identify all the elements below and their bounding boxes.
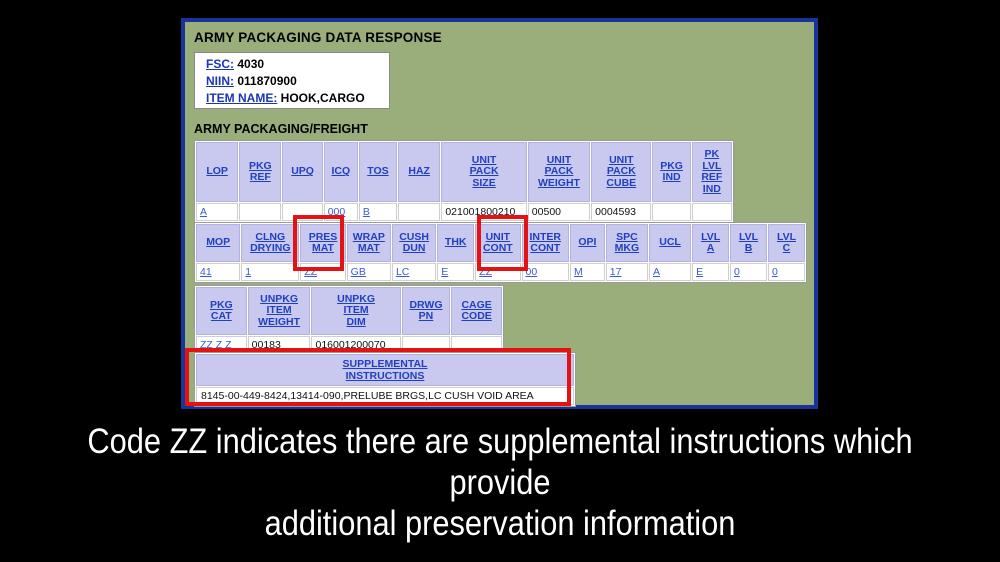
header-word: CAGE	[461, 299, 491, 311]
column-header-preservation-10[interactable]: UCL	[649, 224, 691, 262]
cell-freight-1	[239, 203, 281, 221]
column-header-preservation-1[interactable]: CLNGDRYING	[241, 224, 299, 262]
header-word: SPC	[616, 231, 638, 243]
header-word: LVL	[739, 231, 758, 243]
header-word: INTER	[529, 231, 561, 243]
table-row: A000B021001800210005000004593	[196, 203, 732, 221]
cell-link[interactable]: ZZ	[479, 266, 492, 278]
column-header-freight-6[interactable]: UNITPACKSIZE	[441, 142, 526, 202]
header-word: DRWG	[409, 299, 442, 311]
caption: Code ZZ indicates there are supplemental…	[60, 421, 940, 544]
cell-value: 00500	[532, 206, 561, 218]
cell-link[interactable]: M	[574, 266, 583, 278]
header-word: MAT	[312, 242, 334, 254]
column-header-unpackaged-3[interactable]: DRWGPN	[402, 287, 451, 335]
cell-preservation-2[interactable]: ZZ	[300, 263, 345, 281]
header-word: LVL	[702, 160, 721, 172]
cell-link[interactable]: E	[696, 266, 703, 278]
header-word: ITEM	[267, 304, 292, 316]
column-header-preservation-0[interactable]: MOP	[196, 224, 240, 262]
header-word: MAT	[358, 242, 380, 254]
header-word: HAZ	[408, 165, 430, 177]
header-word: PKG	[249, 160, 272, 172]
cell-freight-9	[652, 203, 690, 221]
cell-link[interactable]: E	[441, 266, 448, 278]
column-header-unpackaged-4[interactable]: CAGECODE	[451, 287, 502, 335]
column-header-preservation-9[interactable]: SPCMKG	[606, 224, 648, 262]
column-header-freight-3[interactable]: ICQ	[324, 142, 358, 202]
column-header-preservation-6[interactable]: UNITCONT	[475, 224, 520, 262]
supplemental-header-line2: INSTRUCTIONS	[199, 370, 571, 382]
fsc-value: 4030	[237, 57, 264, 71]
cell-freight-7[interactable]: 00500	[528, 203, 590, 221]
header-word: B	[745, 242, 753, 254]
header-word: SIZE	[472, 177, 495, 189]
cell-link[interactable]: 17	[610, 266, 622, 278]
cell-preservation-7[interactable]: 00	[522, 263, 569, 281]
cell-preservation-6[interactable]: ZZ	[475, 263, 520, 281]
cell-preservation-5[interactable]: E	[437, 263, 474, 281]
header-word: WRAP	[353, 231, 385, 243]
column-header-preservation-11[interactable]: LVLA	[692, 224, 729, 262]
header-word: UNPKG	[337, 293, 375, 305]
cell-preservation-10[interactable]: A	[649, 263, 691, 281]
info-row-item-name: ITEM NAME: HOOK,CARGO	[206, 90, 389, 107]
cell-preservation-12[interactable]: 0	[730, 263, 767, 281]
info-row-niin: NIIN: 011870900	[206, 73, 389, 90]
column-header-unpackaged-1[interactable]: UNPKGITEMWEIGHT	[248, 287, 311, 335]
cell-link[interactable]: ZZ Z Z	[200, 339, 232, 351]
header-word: CONT	[530, 242, 560, 254]
column-header-unpackaged-2[interactable]: UNPKGITEMDIM	[311, 287, 400, 335]
cell-freight-10	[692, 203, 732, 221]
cell-preservation-1[interactable]: 1	[241, 263, 299, 281]
header-word: REF	[250, 171, 271, 183]
header-word: LVL	[701, 231, 720, 243]
header-word: UNPKG	[260, 293, 298, 305]
item-info-box: FSC: 4030 NIIN: 011870900 ITEM NAME: HOO…	[194, 52, 390, 109]
header-word: OPI	[578, 236, 596, 248]
cell-preservation-0[interactable]: 41	[196, 263, 240, 281]
header-word: UNIT	[486, 231, 511, 243]
column-header-freight-4[interactable]: TOS	[359, 142, 397, 202]
cell-freight-0[interactable]: A	[196, 203, 238, 221]
header-word: PN	[419, 310, 434, 322]
column-header-unpackaged-0[interactable]: PKGCAT	[196, 287, 247, 335]
column-header-preservation-4[interactable]: CUSHDUN	[392, 224, 436, 262]
cell-preservation-8[interactable]: M	[570, 263, 605, 281]
cell-freight-2	[282, 203, 322, 221]
table-header-row: PKGCATUNPKGITEMWEIGHTUNPKGITEMDIMDRWGPNC…	[196, 287, 502, 335]
supplemental-instructions-header[interactable]: SUPPLEMENTAL INSTRUCTIONS	[196, 354, 574, 386]
cell-freight-6[interactable]: 021001800210	[441, 203, 526, 221]
header-word: CUBE	[606, 177, 636, 189]
header-word: PACK	[607, 165, 636, 177]
column-header-freight-0[interactable]: LOP	[196, 142, 238, 202]
cell-link[interactable]: 1	[245, 266, 251, 278]
cell-link[interactable]: 000	[328, 206, 346, 218]
cell-link[interactable]: 00	[526, 266, 538, 278]
table-header-row: MOPCLNGDRYINGPRESMATWRAPMATCUSHDUNTHKUNI…	[196, 224, 805, 262]
cell-freight-8[interactable]: 0004593	[591, 203, 651, 221]
unpackaged-item-table: PKGCATUNPKGITEMWEIGHTUNPKGITEMDIMDRWGPNC…	[194, 285, 504, 356]
niin-label[interactable]: NIIN:	[206, 74, 234, 88]
header-word: PACK	[544, 165, 573, 177]
column-header-preservation-8[interactable]: OPI	[570, 224, 605, 262]
cell-freight-3[interactable]: 000	[324, 203, 358, 221]
cell-freight-4[interactable]: B	[359, 203, 397, 221]
fsc-label[interactable]: FSC:	[206, 57, 234, 71]
cell-value: 021001800210	[445, 206, 515, 218]
column-header-freight-1[interactable]: PKGREF	[239, 142, 281, 202]
column-header-freight-7[interactable]: UNITPACKWEIGHT	[528, 142, 590, 202]
cell-value: 016001200070	[315, 339, 385, 351]
column-header-freight-9[interactable]: PKGIND	[652, 142, 690, 202]
header-word: LOP	[206, 165, 228, 177]
header-word: UPQ	[291, 165, 314, 177]
header-word: PKG	[660, 160, 683, 172]
header-word: UNIT	[547, 154, 572, 166]
header-word: IND	[663, 171, 681, 183]
column-header-freight-10[interactable]: PKLVLREFIND	[692, 142, 732, 202]
cell-freight-5	[398, 203, 440, 221]
army-packaging-panel: ARMY PACKAGING DATA RESPONSE FSC: 4030 N…	[181, 18, 818, 409]
cell-link[interactable]: A	[653, 266, 660, 278]
cell-preservation-4[interactable]: LC	[392, 263, 436, 281]
column-header-preservation-3[interactable]: WRAPMAT	[347, 224, 391, 262]
header-word: IND	[703, 183, 721, 195]
supplemental-header-line1: SUPPLEMENTAL	[199, 358, 571, 370]
caption-line-1: Code ZZ indicates there are supplemental…	[60, 421, 940, 503]
supplemental-instructions-box: SUPPLEMENTAL INSTRUCTIONS 8145-00-449-84…	[194, 352, 576, 407]
cell-link[interactable]: GB	[351, 266, 366, 278]
info-row-fsc: FSC: 4030	[206, 56, 389, 73]
packaging-freight-table: LOPPKGREFUPQICQTOSHAZUNITPACKSIZEUNITPAC…	[194, 140, 734, 223]
header-word: DUN	[403, 242, 426, 254]
header-word: CAT	[211, 310, 232, 322]
cell-link[interactable]: LC	[396, 266, 409, 278]
header-word: A	[707, 242, 715, 254]
cell-link[interactable]: A	[200, 206, 207, 218]
column-header-freight-5[interactable]: HAZ	[398, 142, 440, 202]
cell-link[interactable]: 0	[734, 266, 740, 278]
item-name-label[interactable]: ITEM NAME:	[206, 91, 277, 105]
header-word: REF	[701, 171, 722, 183]
cell-link[interactable]: ZZ	[304, 266, 317, 278]
table-row: 411ZZGBLCEZZ00M17AE00	[196, 263, 805, 281]
cell-value: 0004593	[595, 206, 636, 218]
header-word: PACK	[470, 165, 499, 177]
preservation-packing-table: MOPCLNGDRYINGPRESMATWRAPMATCUSHDUNTHKUNI…	[194, 222, 807, 283]
supplemental-instructions-text: 8145-00-449-8424,13414-090,PRELUBE BRGS,…	[196, 387, 574, 405]
header-word: UCL	[659, 236, 681, 248]
column-header-freight-2[interactable]: UPQ	[282, 142, 322, 202]
column-header-preservation-12[interactable]: LVLB	[730, 224, 767, 262]
column-header-preservation-13[interactable]: LVLC	[768, 224, 805, 262]
header-word: PKG	[210, 299, 233, 311]
header-word: MKG	[615, 242, 640, 254]
cell-preservation-11[interactable]: E	[692, 263, 729, 281]
item-name-value: HOOK,CARGO	[281, 91, 365, 105]
header-word: C	[783, 242, 791, 254]
column-header-preservation-5[interactable]: THK	[437, 224, 474, 262]
header-word: CODE	[461, 310, 491, 322]
caption-line-2: additional preservation information	[60, 503, 940, 544]
section-title-packaging-freight: ARMY PACKAGING/FREIGHT	[194, 122, 368, 136]
header-word: WEIGHT	[538, 177, 580, 189]
header-word: CONT	[483, 242, 513, 254]
header-word: DRYING	[250, 242, 290, 254]
header-word: ICQ	[331, 165, 350, 177]
header-word: WEIGHT	[258, 316, 300, 328]
header-word: TOS	[367, 165, 388, 177]
header-word: CLNG	[255, 231, 285, 243]
cell-preservation-13[interactable]: 0	[768, 263, 805, 281]
column-header-preservation-2[interactable]: PRESMAT	[300, 224, 345, 262]
column-header-freight-8[interactable]: UNITPACKCUBE	[591, 142, 651, 202]
column-header-preservation-7[interactable]: INTERCONT	[522, 224, 569, 262]
cell-value: 00183	[252, 339, 281, 351]
cell-link[interactable]: 41	[200, 266, 212, 278]
cell-link[interactable]: B	[363, 206, 370, 218]
header-word: ITEM	[344, 304, 369, 316]
header-word: UNIT	[472, 154, 497, 166]
cell-link[interactable]: 0	[772, 266, 778, 278]
header-word: DIM	[346, 316, 365, 328]
header-word: UNIT	[609, 154, 634, 166]
niin-value: 011870900	[237, 74, 296, 88]
page-title: ARMY PACKAGING DATA RESPONSE	[194, 30, 442, 45]
header-word: CUSH	[399, 231, 429, 243]
cell-preservation-9[interactable]: 17	[606, 263, 648, 281]
screen: ARMY PACKAGING DATA RESPONSE FSC: 4030 N…	[0, 0, 1000, 562]
table-header-row: LOPPKGREFUPQICQTOSHAZUNITPACKSIZEUNITPAC…	[196, 142, 732, 202]
header-word: PK	[705, 148, 720, 160]
header-word: PRES	[309, 231, 338, 243]
header-word: LVL	[777, 231, 796, 243]
header-word: THK	[445, 236, 467, 248]
cell-preservation-3[interactable]: GB	[347, 263, 391, 281]
header-word: MOP	[206, 236, 230, 248]
